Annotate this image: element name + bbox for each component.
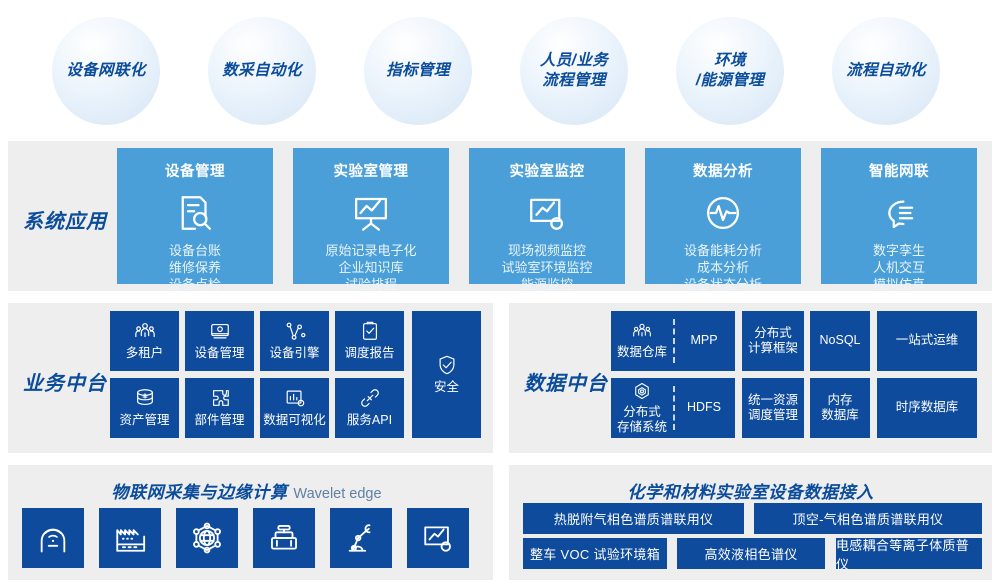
system-app-card-title: 智能网联 [869, 160, 929, 181]
lab-chip[interactable]: 高效液相色谱仪 [677, 538, 825, 569]
data-tile-label: 内存数据库 [821, 393, 859, 424]
bubble-line: 流程管理 [540, 71, 608, 91]
bubble-line: 数采自动化 [222, 61, 302, 81]
data-tile-split-label: HDFS [687, 400, 721, 416]
system-app-card-line: 人机交互 [873, 260, 925, 277]
system-app-card-5[interactable]: 智能网联数字孪生人机交互模拟仿真 [821, 148, 977, 284]
data-tile-label: 分布式计算框架 [748, 326, 798, 357]
data-tile-MPP[interactable]: 数据仓库MPP [611, 311, 735, 371]
iot-title-text: 物联网采集与边缘计算 [111, 483, 287, 502]
shield-check-icon [436, 354, 458, 376]
business-tile-资产管理[interactable]: 资产管理 [110, 378, 179, 438]
clipboard-check-icon [359, 320, 381, 342]
system-app-card-line: 维修保养 [169, 260, 221, 277]
bubble-process-automation[interactable]: 流程自动化 [832, 17, 940, 125]
users-group-icon [134, 320, 156, 342]
data-tile-right: HDFS [673, 400, 735, 416]
system-app-card-line: 能源监控 [501, 277, 592, 294]
system-app-card-1[interactable]: 设备管理设备台账维修保养设备点检 [117, 148, 273, 284]
system-app-card-lines: 原始记录电子化企业知识库试验排程 [325, 243, 416, 294]
robot-arm-icon[interactable] [330, 508, 392, 568]
data-tile-left: 数据仓库 [611, 321, 673, 361]
system-app-card-line: 企业知识库 [325, 260, 416, 277]
system-app-card-lines: 现场视频监控试验室环境监控能源监控 [501, 243, 592, 294]
system-app-card-line: 数字孪生 [873, 243, 925, 260]
system-app-card-line: 设备能耗分析 [684, 243, 762, 260]
bubble-equipment-network[interactable]: 设备网联化 [52, 17, 160, 125]
monitor-chart-icon [526, 192, 568, 234]
capability-bubbles-row: 设备网联化数采自动化指标管理人员/业务流程管理环境/能源管理流程自动化 [0, 0, 1000, 136]
data-tile-label: 统一资源调度管理 [748, 393, 798, 424]
data-tile-left: 分布式存储系统 [611, 381, 673, 436]
data-tile-label: 时序数据库 [896, 400, 959, 416]
system-app-card-line: 模拟仿真 [873, 277, 925, 294]
business-tile-label: 数据可视化 [263, 413, 326, 429]
chart-monitor-icon[interactable] [407, 508, 469, 568]
link-chain-icon [359, 387, 381, 409]
business-tile-部件管理[interactable]: 部件管理 [185, 378, 254, 438]
speech-head-icon [878, 192, 920, 234]
data-tile-cell[interactable]: NoSQL [810, 311, 870, 371]
database-coin-icon [134, 387, 156, 409]
business-tile-label: 安全 [434, 380, 459, 396]
system-app-card-lines: 设备能耗分析成本分析设备状态分析 [684, 243, 762, 294]
data-tile-label: 一站式运维 [896, 333, 959, 349]
data-tile-cell[interactable]: 统一资源调度管理 [742, 378, 804, 438]
node-graph-icon [284, 320, 306, 342]
chart-board-icon [284, 387, 306, 409]
system-app-card-title: 设备管理 [165, 160, 225, 181]
iot-subtitle-text: Wavelet edge [293, 486, 381, 502]
bubble-people-process[interactable]: 人员/业务流程管理 [520, 17, 628, 125]
business-tile-label: 多租户 [126, 346, 164, 362]
business-tile-调度报告[interactable]: 调度报告 [335, 311, 404, 371]
wifi-gateway-icon[interactable] [22, 508, 84, 568]
bubble-data-acquisition[interactable]: 数采自动化 [208, 17, 316, 125]
globe-network-icon[interactable] [176, 508, 238, 568]
lab-chip[interactable]: 顶空-气相色谱质谱联用仪 [754, 503, 982, 534]
system-app-card-3[interactable]: 实验室监控现场视频监控试验室环境监控能源监控 [469, 148, 625, 284]
business-tile-label: 部件管理 [194, 413, 244, 429]
data-tile-cell[interactable]: 内存数据库 [810, 378, 870, 438]
system-app-card-4[interactable]: 数据分析设备能耗分析成本分析设备状态分析 [645, 148, 801, 284]
users-group-icon [632, 321, 652, 341]
business-tile-label: 服务API [347, 413, 392, 429]
data-tile-HDFS[interactable]: 分布式存储系统HDFS [611, 378, 735, 438]
data-tile-cell[interactable]: 一站式运维 [877, 311, 977, 371]
puzzle-piece-icon [209, 387, 231, 409]
bubble-line: 设备网联化 [66, 61, 146, 81]
system-app-card-lines: 数字孪生人机交互模拟仿真 [873, 243, 925, 294]
bubble-line: 人员/业务 [540, 51, 608, 71]
data-tile-label: 分布式存储系统 [617, 405, 667, 436]
system-app-card-line: 试验排程 [325, 277, 416, 294]
architecture-diagram: 设备网联化数采自动化指标管理人员/业务流程管理环境/能源管理流程自动化 系统应用… [0, 0, 1000, 588]
business-tile-多租户[interactable]: 多租户 [110, 311, 179, 371]
iot-panel-title: 物联网采集与边缘计算Wavelet edge [0, 478, 493, 503]
business-tile-设备引擎[interactable]: 设备引擎 [260, 311, 329, 371]
bubble-line: 流程自动化 [846, 61, 926, 81]
data-tile-label: 数据仓库 [617, 345, 667, 361]
bubble-kpi-management[interactable]: 指标管理 [364, 17, 472, 125]
system-app-card-line: 设备点检 [169, 277, 221, 294]
system-app-card-line: 现场视频监控 [501, 243, 592, 260]
business-tile-security[interactable]: 安全 [412, 311, 481, 438]
business-tile-label: 设备引擎 [269, 346, 319, 362]
lab-panel-title: 化学和材料实验室设备数据接入 [509, 478, 992, 503]
sensor-device-icon[interactable] [253, 508, 315, 568]
presentation-chart-icon [350, 192, 392, 234]
system-app-card-2[interactable]: 实验室管理原始记录电子化企业知识库试验排程 [293, 148, 449, 284]
hexagon-layers-icon [632, 381, 652, 401]
data-tile-cell[interactable]: 时序数据库 [877, 378, 977, 438]
system-application-label: 系统应用 [23, 205, 107, 234]
data-tile-right: MPP [673, 333, 735, 349]
data-tile-label: NoSQL [820, 333, 861, 349]
data-tile-divider [673, 319, 675, 363]
lab-chip[interactable]: 电感耦合等离子体质普仪 [836, 538, 982, 569]
document-search-icon [174, 192, 216, 234]
system-app-card-line: 设备状态分析 [684, 277, 762, 294]
business-tile-label: 设备管理 [194, 346, 244, 362]
system-app-card-lines: 设备台账维修保养设备点检 [169, 243, 221, 294]
system-app-card-title: 实验室监控 [510, 160, 585, 181]
lab-chip[interactable]: 整车 VOC 试验环境箱 [523, 538, 667, 569]
data-tile-divider [673, 386, 675, 430]
data-tile-split-label: MPP [690, 333, 717, 349]
server-device-icon [209, 320, 231, 342]
business-tile-label: 调度报告 [344, 346, 394, 362]
business-tile-数据可视化[interactable]: 数据可视化 [260, 378, 329, 438]
system-app-card-line: 成本分析 [684, 260, 762, 277]
bubble-line: /能源管理 [696, 71, 764, 91]
pulse-circle-icon [702, 192, 744, 234]
data-tile-cell[interactable]: 分布式计算框架 [742, 311, 804, 371]
business-platform-label: 业务中台 [23, 367, 107, 396]
bubble-environment-energy[interactable]: 环境/能源管理 [676, 17, 784, 125]
system-app-card-line: 原始记录电子化 [325, 243, 416, 260]
lab-chip[interactable]: 热脱附气相色谱质谱联用仪 [523, 503, 744, 534]
business-tile-label: 资产管理 [119, 413, 169, 429]
business-tile-设备管理[interactable]: 设备管理 [185, 311, 254, 371]
bubble-line: 指标管理 [386, 61, 450, 81]
factory-icon[interactable] [99, 508, 161, 568]
system-app-card-title: 数据分析 [693, 160, 753, 181]
system-app-card-title: 实验室管理 [334, 160, 409, 181]
bubble-line: 环境 [696, 51, 764, 71]
data-platform-label: 数据中台 [524, 367, 608, 396]
system-app-card-line: 设备台账 [169, 243, 221, 260]
business-tile-服务API[interactable]: 服务API [335, 378, 404, 438]
system-app-card-line: 试验室环境监控 [501, 260, 592, 277]
